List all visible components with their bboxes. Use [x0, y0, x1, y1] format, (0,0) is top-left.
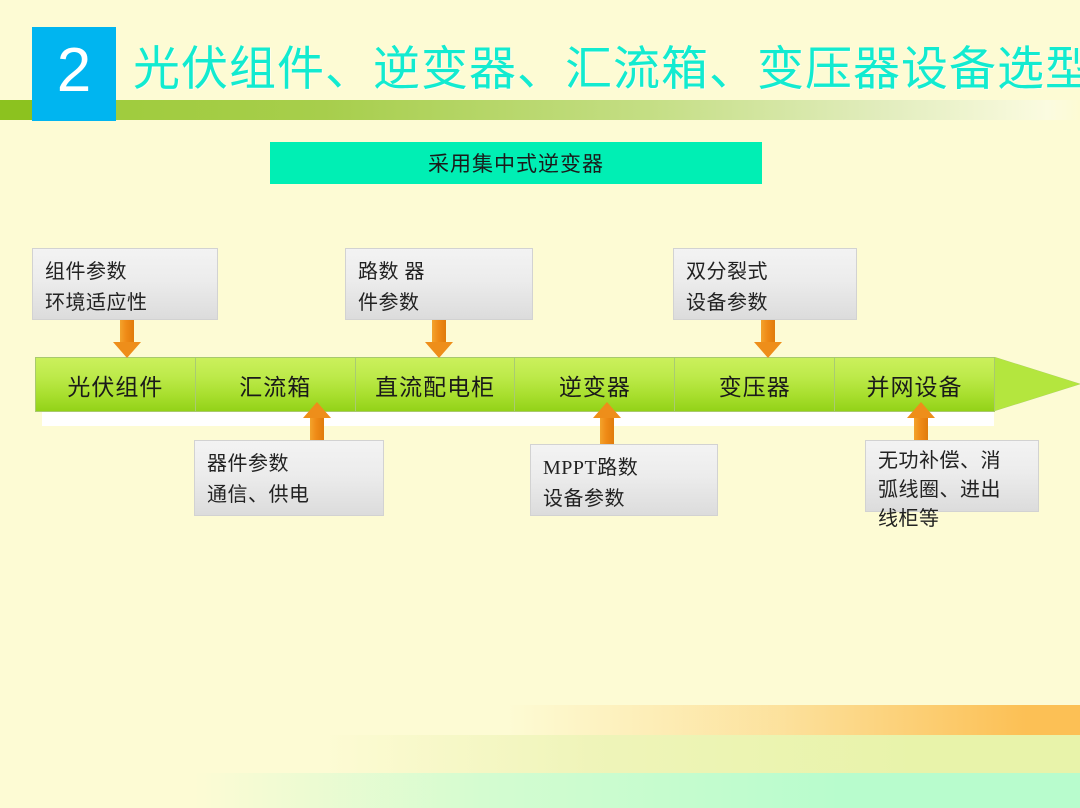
- callout-line: 无功补偿、消: [878, 447, 1038, 476]
- arrow-shaft: [761, 320, 775, 342]
- arrow-shaft: [310, 418, 324, 440]
- arrow-shaft: [914, 418, 928, 440]
- callout-line: 环境适应性: [45, 288, 217, 319]
- callout-line: 线柜等: [878, 505, 1038, 534]
- decorative-band-mint: [0, 773, 1080, 808]
- chain-item-transformer[interactable]: 变压器: [675, 358, 835, 411]
- arrow-head: [425, 342, 453, 358]
- callout-dc-cabinet: 路数 器 件参数: [345, 248, 533, 320]
- chain-arrowhead-icon: [994, 357, 1080, 411]
- header-rule: [0, 100, 1080, 120]
- callout-pv-module: 组件参数 环境适应性: [32, 248, 218, 320]
- arrow-shaft: [120, 320, 134, 342]
- arrow-down-icon: [113, 320, 141, 342]
- callout-line: 通信、供电: [207, 480, 383, 511]
- arrow-up-icon: [303, 418, 331, 440]
- arrow-head: [907, 402, 935, 418]
- arrow-shaft: [432, 320, 446, 342]
- page-title: 光伏组件、逆变器、汇流箱、变压器设备选型: [133, 30, 1080, 99]
- callout-line: 组件参数: [45, 257, 217, 288]
- chain-body: 光伏组件 汇流箱 直流配电柜 逆变器 变压器 并网设备: [35, 357, 995, 412]
- arrow-down-icon: [425, 320, 453, 342]
- arrow-head: [754, 342, 782, 358]
- callout-grid-equipment: 无功补偿、消 弧线圈、进出 线柜等: [865, 440, 1039, 512]
- callout-inverter: MPPT路数 设备参数: [530, 444, 718, 516]
- callout-line: 设备参数: [543, 484, 717, 515]
- callout-line: 器件参数: [207, 449, 383, 480]
- process-chain: 光伏组件 汇流箱 直流配电柜 逆变器 变压器 并网设备: [35, 357, 1045, 412]
- subheader-banner: 采用集中式逆变器: [270, 142, 762, 184]
- callout-line: 弧线圈、进出: [878, 476, 1038, 505]
- arrow-head: [113, 342, 141, 358]
- callout-combiner-box: 器件参数 通信、供电: [194, 440, 384, 516]
- section-number-badge: 2: [32, 27, 116, 121]
- decorative-band-orange: [0, 705, 1080, 735]
- arrow-down-icon: [754, 320, 782, 342]
- decorative-band-pale: [0, 735, 1080, 773]
- callout-line: MPPT路数: [543, 453, 717, 484]
- callout-line: 路数 器: [358, 257, 532, 288]
- chain-underline: [42, 412, 994, 426]
- arrow-head: [303, 402, 331, 418]
- arrow-up-icon: [907, 418, 935, 440]
- callout-transformer: 双分裂式 设备参数: [673, 248, 857, 320]
- chain-item-dc-cabinet[interactable]: 直流配电柜: [356, 358, 516, 411]
- arrow-head: [593, 402, 621, 418]
- callout-line: 设备参数: [686, 288, 856, 319]
- arrow-up-icon: [593, 418, 621, 444]
- arrow-shaft: [600, 418, 614, 444]
- chain-item-pv-module[interactable]: 光伏组件: [36, 358, 196, 411]
- callout-line: 件参数: [358, 288, 532, 319]
- callout-line: 双分裂式: [686, 257, 856, 288]
- chain-item-combiner-box[interactable]: 汇流箱: [196, 358, 356, 411]
